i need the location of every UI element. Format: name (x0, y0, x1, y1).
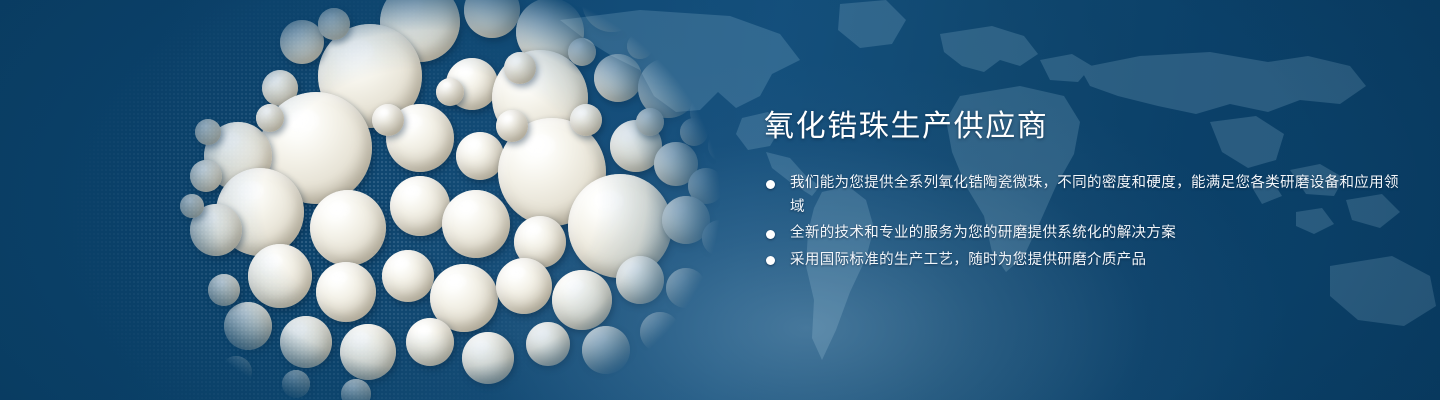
bullet-dot-icon (766, 230, 775, 239)
list-item: 全新的技术和专业的服务为您的研磨提供系统化的解决方案 (764, 222, 1404, 246)
list-item-label: 采用国际标准的生产工艺，随时为您提供研磨介质产品 (790, 252, 1146, 268)
list-item: 采用国际标准的生产工艺，随时为您提供研磨介质产品 (764, 249, 1404, 273)
feature-list: 我们能为您提供全系列氧化锆陶瓷微珠，不同的密度和硬度，能满足您各类研磨设备和应用… (764, 172, 1404, 272)
list-item-label: 我们能为您提供全系列氧化锆陶瓷微珠，不同的密度和硬度，能满足您各类研磨设备和应用… (790, 175, 1399, 215)
hero-banner: 氧化锆珠生产供应商 我们能为您提供全系列氧化锆陶瓷微珠，不同的密度和硬度，能满足… (0, 0, 1440, 400)
page-title: 氧化锆珠生产供应商 (764, 108, 1404, 146)
bullet-dot-icon (766, 180, 775, 189)
banner-copy: 氧化锆珠生产供应商 我们能为您提供全系列氧化锆陶瓷微珠，不同的密度和硬度，能满足… (764, 108, 1404, 275)
list-item: 我们能为您提供全系列氧化锆陶瓷微珠，不同的密度和硬度，能满足您各类研磨设备和应用… (764, 172, 1404, 219)
list-item-label: 全新的技术和专业的服务为您的研磨提供系统化的解决方案 (790, 225, 1176, 241)
bullet-dot-icon (766, 256, 775, 265)
